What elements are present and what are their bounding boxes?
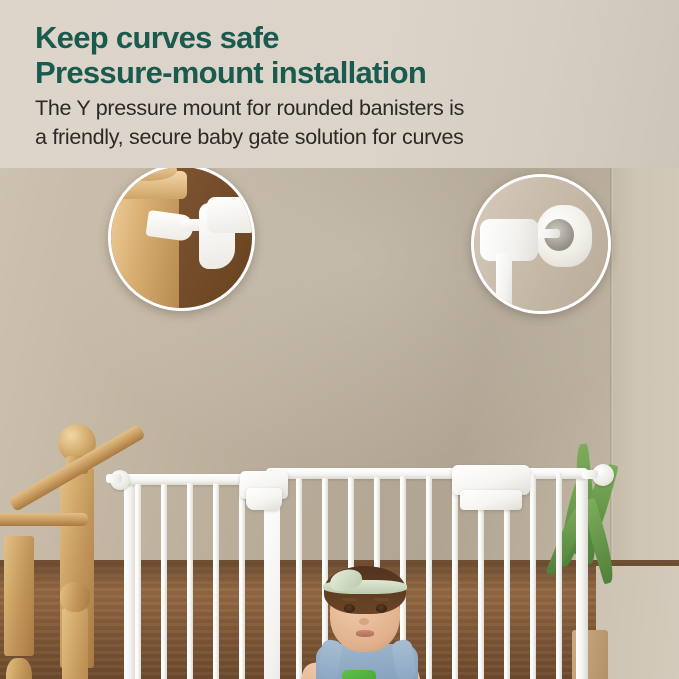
gate-bar <box>213 483 219 679</box>
stair-handrail-lower <box>0 513 88 526</box>
toddler-eye <box>344 604 355 613</box>
left-callout-circle <box>108 168 255 311</box>
gate-bar <box>530 474 536 679</box>
toddler <box>290 566 450 679</box>
gate-bar <box>135 484 141 679</box>
gate-bar <box>239 482 245 679</box>
gate-bar <box>161 484 167 679</box>
gate-post-right-closeup <box>496 253 512 311</box>
gate-bar <box>556 473 562 679</box>
toddler-dress-strap <box>391 639 416 679</box>
right-callout-circle <box>471 174 611 314</box>
toddler-eye <box>376 604 387 613</box>
page-title: Keep curves safe Pressure-mount installa… <box>35 21 635 90</box>
product-photo <box>0 168 679 679</box>
pressure-mount-bolt-top-left <box>106 474 122 483</box>
newel-collar-front <box>6 658 32 679</box>
toddler-eyebrow <box>342 598 357 601</box>
gate-frame-closeup-upper <box>207 197 255 233</box>
baluster-cap <box>60 582 90 612</box>
pressure-mount-bolt-top-right <box>582 470 598 479</box>
gate-bar <box>452 475 458 679</box>
baluster <box>62 608 88 679</box>
gate-right-post <box>576 474 588 679</box>
banister-post-closeup <box>108 185 179 308</box>
header-banner: Keep curves safe Pressure-mount installa… <box>0 0 679 168</box>
product-feature-image: Keep curves safe Pressure-mount installa… <box>0 0 679 679</box>
banister-newel-post-front <box>4 536 34 656</box>
gate-latch-body[interactable] <box>246 488 282 510</box>
gate-bar <box>187 483 193 679</box>
page-subtitle: The Y pressure mount for rounded baniste… <box>35 94 645 151</box>
green-toy-block <box>342 670 376 679</box>
toddler-mouth <box>356 630 374 637</box>
toddler-nose <box>359 618 369 625</box>
gate-hinge-block-lower <box>460 490 522 510</box>
toddler-eyebrow <box>374 598 389 601</box>
